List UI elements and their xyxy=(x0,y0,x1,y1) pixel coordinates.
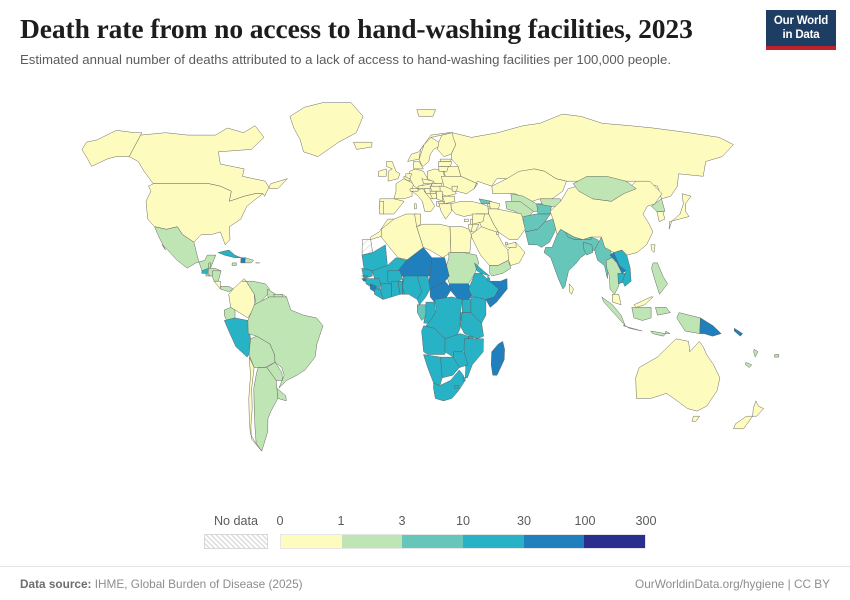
country-iceland[interactable] xyxy=(354,142,373,149)
country-slovakia[interactable] xyxy=(432,184,442,187)
world-map[interactable] xyxy=(0,98,850,506)
country-papua-new-guinea[interactable] xyxy=(700,318,721,336)
country-united-kingdom[interactable] xyxy=(386,162,400,182)
country-greenland[interactable] xyxy=(290,103,363,157)
country-dominican-republic[interactable] xyxy=(245,258,254,263)
legend-no-data[interactable]: No data xyxy=(204,514,268,549)
legend-bin-4[interactable] xyxy=(524,535,585,548)
country-peru[interactable] xyxy=(224,318,250,357)
country-svalbard[interactable] xyxy=(417,110,436,117)
country-cyprus[interactable] xyxy=(464,219,468,222)
legend-tick: 30 xyxy=(517,514,531,528)
country-latvia[interactable] xyxy=(438,162,452,167)
country-new-zealand[interactable] xyxy=(734,401,764,429)
chart-header: Death rate from no access to hand-washin… xyxy=(0,0,850,70)
country-uruguay[interactable] xyxy=(277,388,287,401)
country-greece[interactable] xyxy=(439,204,452,219)
legend-tick: 300 xyxy=(635,514,656,528)
country-solomon-islands[interactable] xyxy=(734,328,742,336)
country-taiwan[interactable] xyxy=(651,245,655,253)
legend-tick: 3 xyxy=(398,514,405,528)
country-argentina[interactable] xyxy=(254,368,278,452)
country-lithuania[interactable] xyxy=(439,166,449,171)
world-map-svg[interactable] xyxy=(0,98,850,506)
country-south-korea[interactable] xyxy=(657,211,665,221)
map-legend: No data 0131030100300 xyxy=(0,508,850,554)
legend-no-data-swatch xyxy=(204,534,268,549)
legend-bin-1[interactable] xyxy=(342,535,403,548)
country-us-alaska[interactable] xyxy=(82,130,142,166)
legend-tick-labels: 0131030100300 xyxy=(280,514,646,528)
country-belize[interactable] xyxy=(208,263,211,268)
chart-subtitle: Estimated annual number of deaths attrib… xyxy=(20,51,710,70)
country-eswatini[interactable] xyxy=(463,378,465,381)
page-title: Death rate from no access to hand-washin… xyxy=(20,14,830,45)
legend-no-data-label: No data xyxy=(204,514,268,528)
country-switzerland[interactable] xyxy=(410,189,418,192)
country-namibia[interactable] xyxy=(424,355,443,386)
legend-tick: 1 xyxy=(337,514,344,528)
owid-map-chart: Death rate from no access to hand-washin… xyxy=(0,0,850,600)
country-mozambique[interactable] xyxy=(464,339,484,378)
country-lebanon[interactable] xyxy=(470,219,472,224)
country-serbia[interactable] xyxy=(436,191,443,201)
country-lesotho[interactable] xyxy=(454,386,458,389)
country-sri-lanka[interactable] xyxy=(569,284,573,295)
legend-bins: 0131030100300 xyxy=(280,514,646,549)
legend-bin-3[interactable] xyxy=(463,535,524,548)
country-panama[interactable] xyxy=(220,286,233,291)
country-japan[interactable] xyxy=(669,194,691,230)
country-madagascar[interactable] xyxy=(491,341,504,375)
country-costa-rica[interactable] xyxy=(214,281,220,289)
legend-color-bar[interactable] xyxy=(280,534,646,549)
legend-tick: 100 xyxy=(574,514,595,528)
country-timor-leste[interactable] xyxy=(666,331,670,334)
country-djibouti[interactable] xyxy=(488,276,490,281)
country-jamaica[interactable] xyxy=(232,263,236,266)
country-australia[interactable] xyxy=(636,339,720,411)
logo-line-2: in Data xyxy=(770,29,832,43)
country-qatar[interactable] xyxy=(505,242,507,245)
owid-logo[interactable]: Our World in Data xyxy=(766,10,836,50)
country-bulgaria[interactable] xyxy=(443,196,455,204)
legend-bin-0[interactable] xyxy=(281,535,342,548)
country-ireland[interactable] xyxy=(378,169,386,176)
legend-tick: 10 xyxy=(456,514,470,528)
country-malaysia[interactable] xyxy=(612,294,653,307)
data-source-prefix: Data source: xyxy=(20,577,91,591)
country-kuwait[interactable] xyxy=(496,232,498,235)
data-source[interactable]: Data source: IHME, Global Burden of Dise… xyxy=(20,577,303,591)
country-azerbaijan[interactable] xyxy=(490,201,500,209)
country-haiti[interactable] xyxy=(241,258,246,263)
country-estonia[interactable] xyxy=(440,159,452,161)
country-ethiopia[interactable] xyxy=(469,273,499,299)
legend-bin-2[interactable] xyxy=(402,535,463,548)
logo-line-1: Our World xyxy=(770,15,832,29)
country-tasmania[interactable] xyxy=(692,416,700,421)
country-egypt[interactable] xyxy=(450,227,471,253)
legend-bin-5[interactable] xyxy=(584,535,645,548)
country-vanuatu[interactable] xyxy=(754,349,758,357)
country-uganda[interactable] xyxy=(462,300,471,313)
country-fiji[interactable] xyxy=(774,355,779,358)
country-portugal[interactable] xyxy=(380,201,384,214)
country-ivory-coast[interactable] xyxy=(381,284,392,300)
country-new-caledonia[interactable] xyxy=(746,362,752,367)
legend-tick: 0 xyxy=(276,514,283,528)
license-text[interactable]: OurWorldinData.org/hygiene | CC BY xyxy=(635,577,830,591)
country-cuba[interactable] xyxy=(218,250,241,258)
country-north-macedonia[interactable] xyxy=(439,201,445,204)
country-nicaragua[interactable] xyxy=(212,271,221,281)
country-philippines[interactable] xyxy=(652,263,668,294)
chart-footer: Data source: IHME, Global Burden of Dise… xyxy=(0,566,850,600)
data-source-text: IHME, Global Burden of Disease (2025) xyxy=(95,577,303,591)
